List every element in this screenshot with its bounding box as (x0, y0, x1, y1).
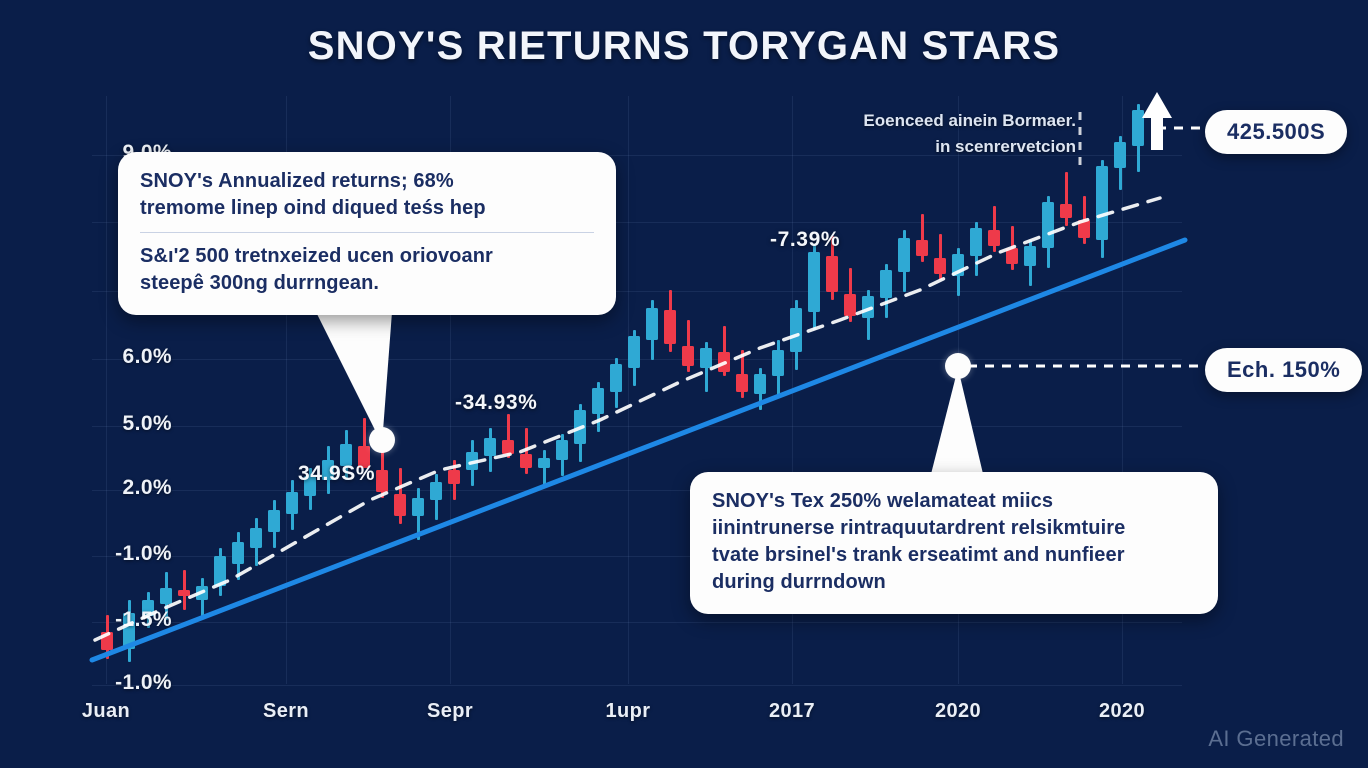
callout-drawdown[interactable]: SNOY's Tex 250% welamateat miicsiinintru… (690, 472, 1218, 614)
candle-body-6 (214, 556, 226, 586)
candle-body-5 (196, 586, 208, 600)
gridline-horizontal-7 (92, 622, 1182, 623)
inline-value-label-0: 34.9S% (298, 462, 375, 486)
inline-value-label-2: -7.39% (770, 228, 840, 252)
callout-drawdown-text-primary: SNOY's Tex 250% welamateat miicsiinintru… (712, 488, 1196, 596)
candle-body-46 (934, 258, 946, 274)
candle-body-15 (376, 470, 388, 492)
x-axis-tick-5: 2020 (898, 700, 1018, 723)
candle-body-30 (646, 308, 658, 340)
candle-body-9 (268, 510, 280, 532)
x-axis-tick-3: 1upr (568, 700, 688, 723)
y-axis-tick-4: 5.0% (92, 412, 172, 436)
marker-dot-annualized[interactable] (369, 427, 395, 453)
y-axis-tick-3: 6.0% (92, 345, 172, 369)
candle-body-53 (1060, 204, 1072, 218)
candle-body-19 (448, 470, 460, 484)
candle-body-55 (1096, 166, 1108, 240)
candle-body-32 (682, 346, 694, 366)
candle-body-18 (430, 482, 442, 500)
candle-body-38 (790, 308, 802, 352)
candle-body-26 (574, 410, 586, 444)
candle-body-50 (1006, 248, 1018, 264)
marker-dot-drawdown[interactable] (945, 353, 971, 379)
callout-annualized-returns-text-primary: SNOY's Annualized returns; 68%tremome li… (140, 168, 594, 222)
candle-body-28 (610, 364, 622, 392)
gridline-horizontal-8 (92, 685, 1182, 686)
candle-body-47 (952, 254, 964, 276)
top-annotation-line-2: in scenrervetcion (808, 134, 1076, 160)
candle-body-41 (844, 294, 856, 316)
candle-body-24 (538, 458, 550, 468)
candle-body-0 (101, 632, 113, 650)
x-axis-tick-1: Sern (226, 700, 346, 723)
x-axis-tick-6: 2020 (1062, 700, 1182, 723)
top-annotation-line-1: Eoenceed ainein Bormaer. (808, 108, 1076, 134)
candle-body-33 (700, 348, 712, 368)
gridline-horizontal-4 (92, 426, 1182, 427)
candle-wick-24 (543, 450, 546, 488)
y-axis-tick-5: 2.0% (92, 476, 172, 500)
value-badge-mid[interactable]: Ech. 150% (1205, 348, 1362, 392)
candle-body-40 (826, 256, 838, 292)
candle-body-37 (772, 350, 784, 376)
y-axis-tick-6: -1.0% (92, 542, 172, 566)
candle-body-7 (232, 542, 244, 564)
candle-body-45 (916, 240, 928, 256)
gridline-vertical-3 (628, 96, 629, 684)
candle-body-39 (808, 252, 820, 312)
x-axis-tick-4: 2017 (732, 700, 852, 723)
x-axis-tick-2: Sepr (390, 700, 510, 723)
candle-body-52 (1042, 202, 1054, 248)
value-badge-top[interactable]: 425.500S (1205, 110, 1347, 154)
candle-body-36 (754, 374, 766, 394)
candle-body-17 (412, 498, 424, 516)
candle-body-23 (520, 454, 532, 468)
candle-body-48 (970, 228, 982, 256)
candle-body-10 (286, 492, 298, 514)
y-axis-tick-8: -1.0% (92, 671, 172, 695)
candle-body-3 (160, 588, 172, 604)
candle-body-21 (484, 438, 496, 456)
candle-body-49 (988, 230, 1000, 246)
candle-body-27 (592, 388, 604, 414)
candle-body-42 (862, 296, 874, 318)
candle-body-43 (880, 270, 892, 298)
candle-body-16 (394, 494, 406, 516)
chart-canvas: SNOY'S RIETURNS TORYGAN STARS 9.0%8.0%6.… (0, 0, 1368, 768)
candle-body-54 (1078, 220, 1090, 238)
x-axis-tick-0: Juan (46, 700, 166, 723)
inline-value-label-1: -34.93% (455, 391, 537, 415)
candle-body-31 (664, 310, 676, 344)
callout-annualized-returns-divider (140, 232, 594, 233)
page-title: SNOY'S RIETURNS TORYGAN STARS (0, 24, 1368, 69)
watermark: AI Generated (1208, 726, 1344, 752)
candle-body-20 (466, 452, 478, 470)
top-annotation: Eoenceed ainein Bormaer. in scenrervetci… (808, 108, 1076, 159)
candle-body-25 (556, 440, 568, 460)
gridline-vertical-0 (106, 96, 107, 684)
candle-body-35 (736, 374, 748, 392)
y-axis-tick-7: -1.5% (92, 608, 172, 632)
candle-body-56 (1114, 142, 1126, 168)
candle-body-29 (628, 336, 640, 368)
candle-body-51 (1024, 246, 1036, 266)
candle-body-8 (250, 528, 262, 548)
candle-body-22 (502, 440, 514, 454)
callout-annualized-returns[interactable]: SNOY's Annualized returns; 68%tremome li… (118, 152, 616, 315)
candle-body-44 (898, 238, 910, 272)
callout-annualized-returns-text-secondary: S&ı'2 500 tretnxeized ucen oriovoanrstee… (140, 243, 594, 297)
candle-body-34 (718, 352, 730, 372)
candle-body-4 (178, 590, 190, 596)
candle-body-57 (1132, 110, 1144, 146)
